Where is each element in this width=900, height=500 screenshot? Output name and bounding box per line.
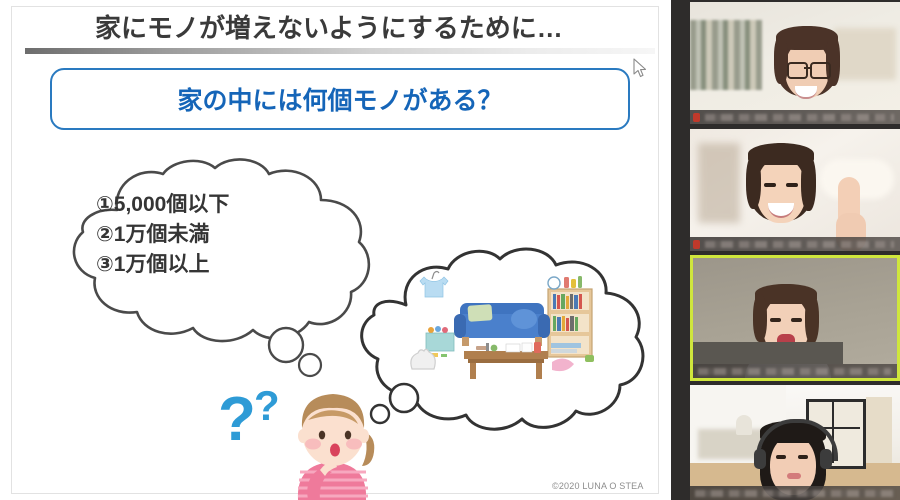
option-item-3: ③1万個以上 — [96, 250, 346, 280]
participant-name-bar-1 — [690, 110, 900, 124]
cloud-tail-bubbles-left — [262, 325, 332, 385]
thinking-girl-illustration — [278, 380, 388, 500]
question-box: 家の中には何個モノがある？ — [50, 68, 630, 130]
option-item-2: ②1万個未満 — [96, 220, 346, 250]
video-feed-3 — [693, 258, 897, 378]
mic-muted-icon-1 — [693, 113, 700, 122]
participant-tile-3-active-speaker[interactable] — [690, 255, 900, 381]
slide-title: 家にモノが増えないようにするために… — [95, 11, 635, 45]
panel-gutter — [671, 0, 690, 500]
question-box-text: 家の中には何個モノがある？ — [52, 70, 628, 128]
option-item-1: ①5,000個以下 — [96, 190, 346, 220]
coffee-table-icon — [464, 342, 548, 379]
participant-name-hidden-3 — [698, 368, 891, 375]
participant-name-bar-4 — [690, 486, 900, 500]
options-list: ①5,000個以下 ②1万個未満 ③1万個以上 — [96, 190, 346, 280]
mouse-cursor-arrow — [633, 58, 647, 78]
sofa-icon — [454, 303, 550, 346]
title-divider-rule — [25, 48, 655, 54]
participant-tile-4[interactable] — [690, 385, 900, 500]
blanket-icon — [552, 358, 574, 371]
participant-name-bar-2 — [690, 237, 900, 251]
participant-video-panel[interactable] — [690, 0, 900, 500]
shared-slide-area[interactable]: 家にモノが増えないようにするために… 家の中には何個モノがある？ ①5,000個… — [0, 0, 671, 500]
video-feed-1 — [690, 2, 900, 124]
svg-text:?: ? — [254, 382, 280, 429]
video-feed-2 — [690, 129, 900, 251]
copyright-text: ©2020 LUNA O STEA — [552, 481, 644, 491]
participant-name-hidden-4 — [695, 490, 894, 497]
participant-name-bar-3 — [693, 364, 897, 378]
green-block-icon — [585, 355, 594, 362]
trash-bag-icon — [411, 349, 435, 369]
participant-tile-1[interactable] — [690, 2, 900, 124]
video-feed-4 — [690, 385, 900, 500]
bookshelf-icon — [548, 276, 592, 357]
cluttered-room-illustration — [402, 267, 612, 397]
mic-muted-icon-2 — [693, 240, 700, 249]
participant-tile-2[interactable] — [690, 129, 900, 251]
screen-share-window: 家にモノが増えないようにするために… 家の中には何個モノがある？ ①5,000個… — [0, 0, 900, 500]
participant-name-hidden-2 — [705, 241, 894, 248]
participant-name-hidden-1 — [705, 114, 894, 121]
svg-text:?: ? — [218, 385, 256, 454]
hanging-shirt-icon — [420, 272, 448, 298]
